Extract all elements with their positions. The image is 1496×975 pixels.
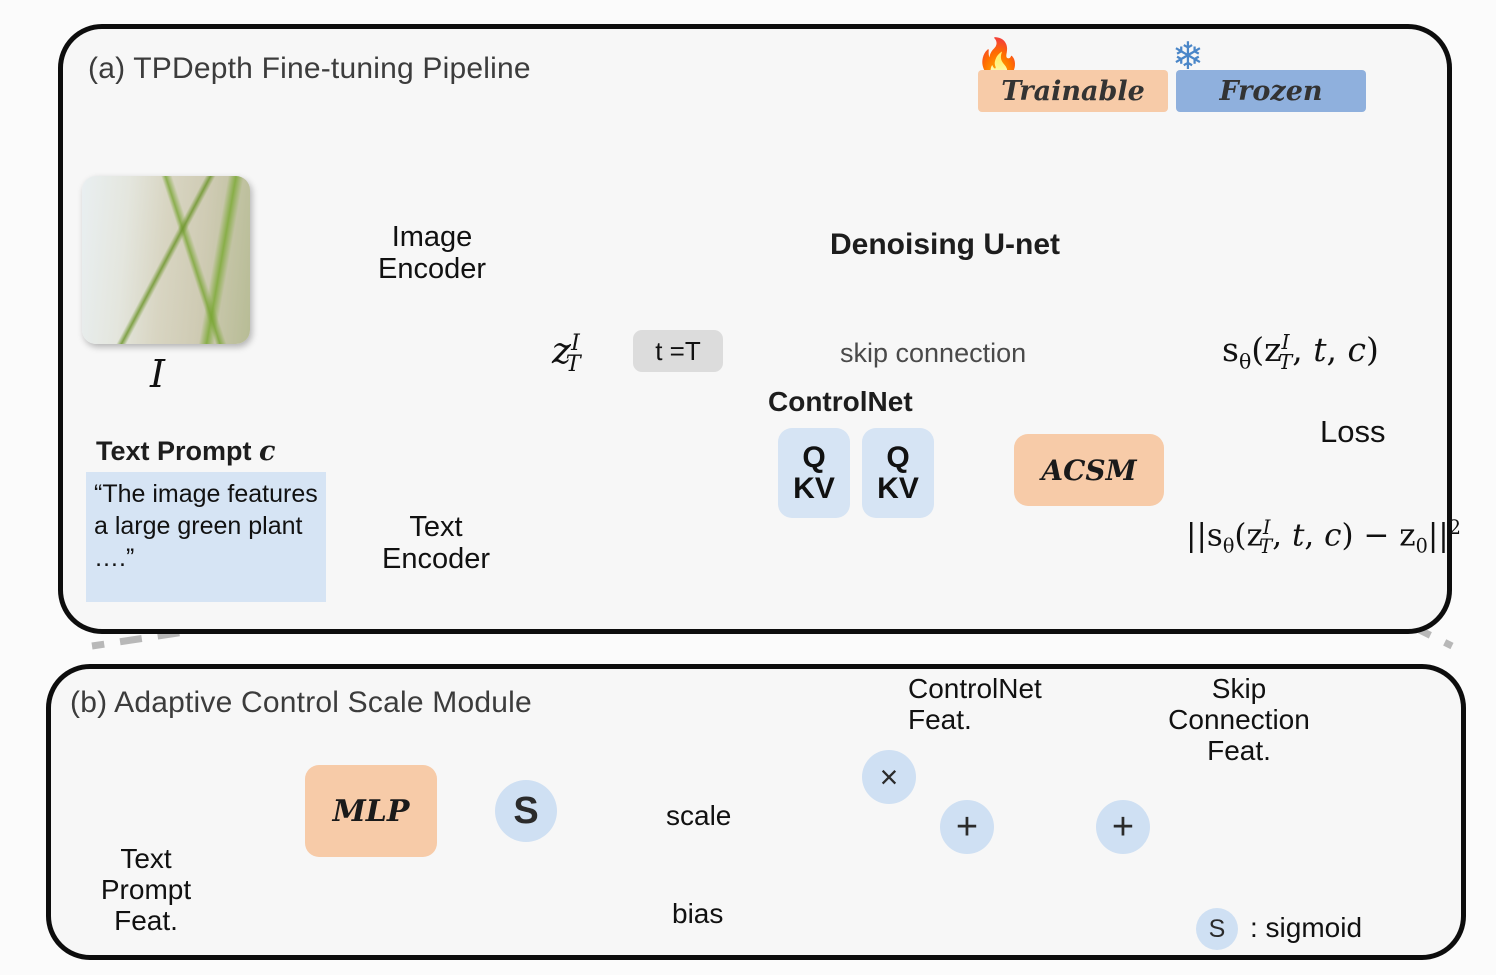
qkv-box-1-kv: KV (793, 473, 835, 505)
timestep-chip: t =T (633, 330, 723, 372)
multiply-circle: × (862, 750, 916, 804)
sigmoid-circle: S (495, 780, 557, 842)
timestep-label: t =T (655, 336, 701, 367)
qkv-box-2: Q KV (862, 428, 934, 518)
sigmoid-symbol: S (513, 790, 538, 833)
denoising-unet-label: Denoising U-net (830, 228, 1060, 262)
text-prompt-value: “The image features a large green plant … (94, 480, 318, 572)
latent-variable-label: zIT (552, 330, 581, 377)
output-score-label: sθ(zIT, t, c) (1222, 330, 1379, 374)
controlnet-feat-label: ControlNet Feat. (908, 674, 1088, 736)
acsm-module: ACSM (1014, 434, 1164, 506)
qkv-box-1: Q KV (778, 428, 850, 518)
input-image-thumbnail (82, 176, 250, 344)
text-prompt-feat-label: Text Prompt Feat. (76, 844, 216, 936)
mlp-label: MLP (333, 794, 410, 829)
qkv-box-1-q: Q (802, 442, 825, 474)
legend-trainable-label: Trainable (1001, 76, 1145, 107)
sigmoid-legend-symbol: S (1209, 915, 1226, 944)
skip-connection-label: skip connection (840, 338, 1026, 369)
input-image-label: I (150, 352, 165, 396)
panel-b-title: (b) Adaptive Control Scale Module (70, 686, 532, 720)
qkv-box-2-kv: KV (877, 473, 919, 505)
text-prompt-heading: Text Prompt c (96, 436, 275, 467)
sigmoid-legend-icon: S (1196, 908, 1238, 950)
add-circle-1: + (940, 800, 994, 854)
legend-frozen-badge: Frozen (1176, 70, 1366, 112)
mlp-module: MLP (305, 765, 437, 857)
loss-formula: ||sθ(zIT, t, c) − z0||2 (1186, 516, 1461, 558)
add-circle-2: + (1096, 800, 1150, 854)
legend-trainable-badge: Trainable (978, 70, 1168, 112)
bias-label: bias (672, 898, 723, 930)
acsm-label: ACSM (1041, 454, 1136, 487)
add-symbol-1: + (956, 806, 978, 849)
multiply-symbol: × (880, 759, 899, 796)
text-prompt-box: “The image features a large green plant … (86, 472, 326, 602)
text-encoder-label: Text Encoder (372, 512, 500, 576)
panel-a-title: (a) TPDepth Fine-tuning Pipeline (88, 52, 531, 86)
qkv-box-2-q: Q (886, 442, 909, 474)
image-encoder-label: Image Encoder (368, 222, 496, 286)
loss-label: Loss (1320, 414, 1385, 450)
legend-frozen-label: Frozen (1219, 76, 1322, 107)
controlnet-label: ControlNet (768, 386, 913, 418)
add-symbol-2: + (1112, 806, 1134, 849)
skip-connection-feat-label: Skip Connection Feat. (1144, 674, 1334, 766)
scale-label: scale (666, 800, 731, 832)
sigmoid-legend-text: : sigmoid (1250, 912, 1362, 944)
figure-canvas: (a) TPDepth Fine-tuning Pipeline 🔥 Train… (0, 0, 1496, 975)
